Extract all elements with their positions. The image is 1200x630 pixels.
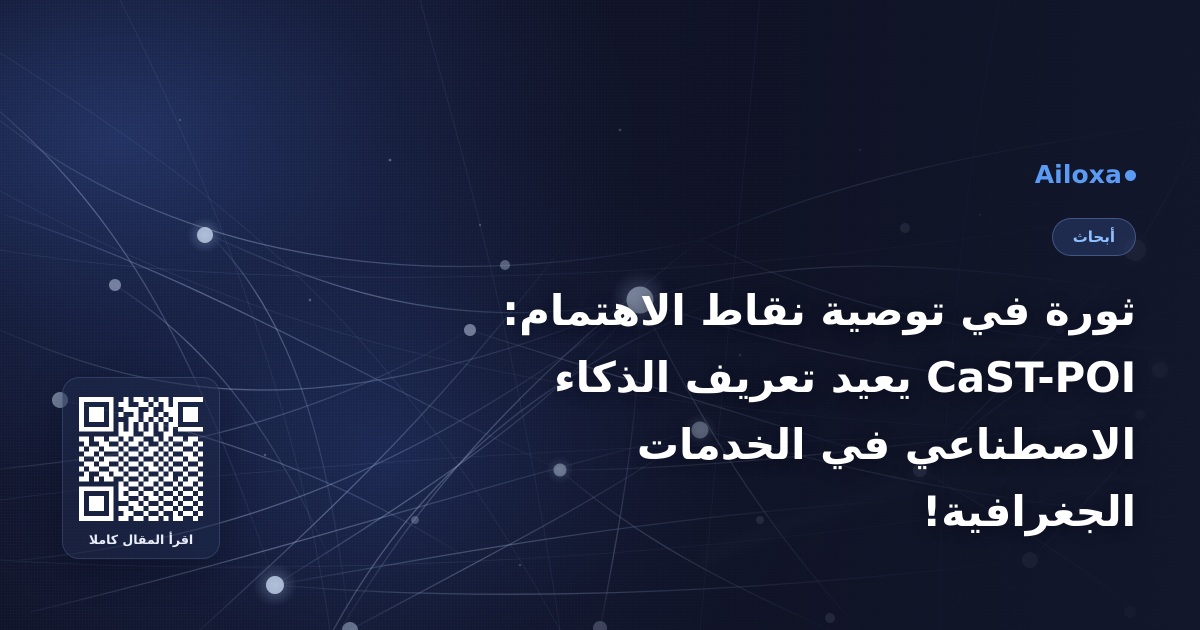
qr-caption: اقرأ المقال كاملا — [89, 532, 193, 547]
qr-card[interactable]: اقرأ المقال كاملا — [62, 377, 220, 559]
brand-logo[interactable]: Ailoxa — [1035, 160, 1136, 189]
brand-name: Ailoxa — [1035, 160, 1122, 189]
content-layer: Ailoxa أبحاث ثورة في توصية نقاط الاهتمام… — [0, 0, 1200, 630]
page-title: ثورة في توصية نقاط الاهتمام: CaST-POI يع… — [436, 277, 1136, 545]
qr-code-icon — [79, 397, 203, 521]
brand-dot-icon — [1125, 170, 1136, 181]
status-badge[interactable]: أبحاث — [1052, 218, 1136, 256]
og-card: Ailoxa أبحاث ثورة في توصية نقاط الاهتمام… — [0, 0, 1200, 630]
badge-label: أبحاث — [1073, 230, 1115, 245]
headline-line-3: الجغرافية! — [922, 487, 1136, 536]
